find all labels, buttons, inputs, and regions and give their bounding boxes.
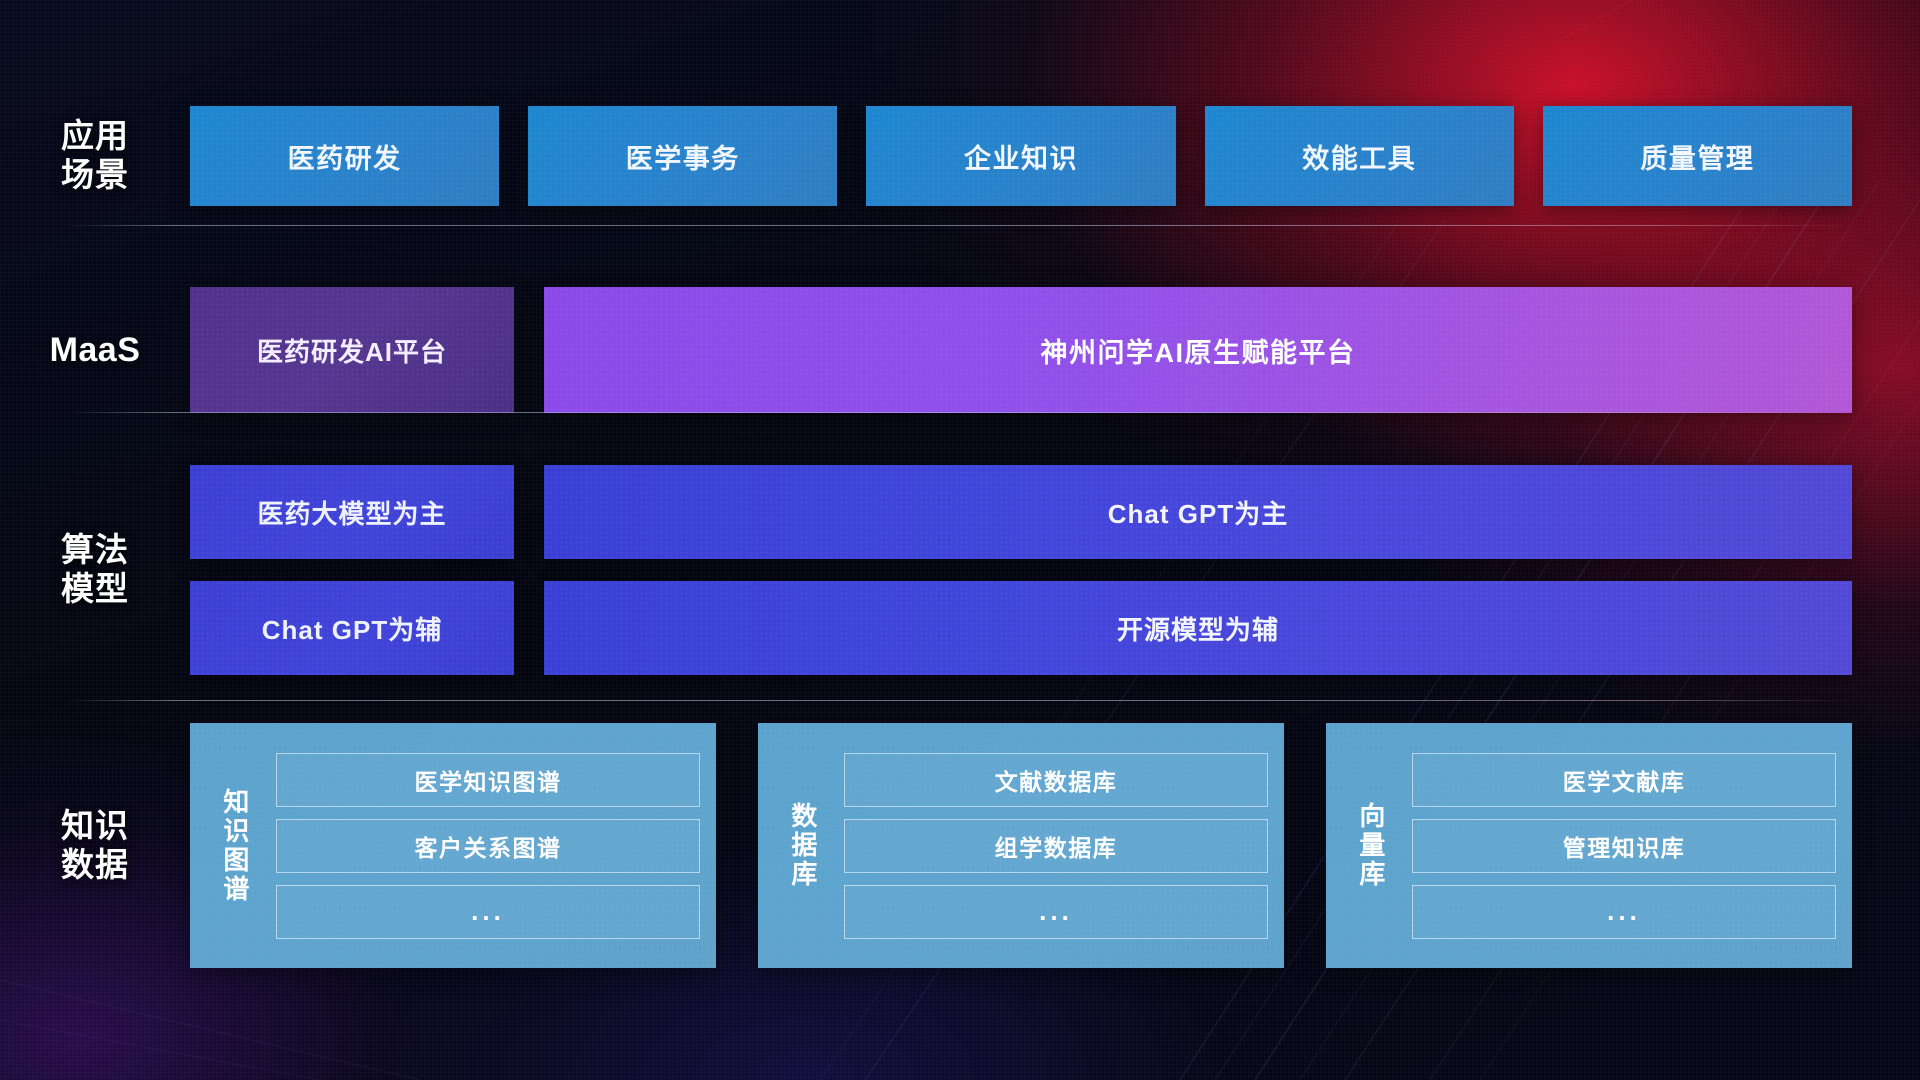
knowledge-item-more-vector-store[interactable]: ...: [1412, 885, 1836, 939]
knowledge-item-medical-knowledge-graph[interactable]: 医学知识图谱: [276, 753, 700, 807]
knowledge-item-omics-database[interactable]: 组学数据库: [844, 819, 1268, 873]
row-label-application-line1: 应用: [0, 117, 190, 156]
algo-card-opensource-secondary[interactable]: 开源模型为辅: [544, 581, 1852, 675]
divider-application-maas: [68, 225, 1852, 226]
row-label-knowledge-line1: 知识: [0, 807, 190, 846]
algorithm-row-primary: 医药大模型为主 Chat GPT为主: [190, 465, 1852, 559]
app-card-medical-affairs[interactable]: 医学事务: [528, 106, 837, 206]
knowledge-item-customer-relation-graph[interactable]: 客户关系图谱: [276, 819, 700, 873]
application-card-list: 医药研发 医学事务 企业知识 效能工具 质量管理: [190, 106, 1852, 206]
architecture-stack: 应用 场景 医药研发 医学事务 企业知识 效能工具 质量管理 MaaS 医药研发…: [0, 0, 1920, 1080]
knowledge-item-literature-database[interactable]: 文献数据库: [844, 753, 1268, 807]
row-body-algorithm: 医药大模型为主 Chat GPT为主 Chat GPT为辅 开源模型为辅: [190, 465, 1920, 675]
row-application-scenario: 应用 场景 医药研发 医学事务 企业知识 效能工具 质量管理: [0, 96, 1920, 216]
knowledge-item-list-database: 文献数据库 组学数据库 ...: [834, 739, 1268, 952]
app-card-medicine-rd[interactable]: 医药研发: [190, 106, 499, 206]
app-card-quality-management[interactable]: 质量管理: [1543, 106, 1852, 206]
divider-maas-algorithm: [68, 412, 1852, 413]
knowledge-item-medical-literature-store[interactable]: 医学文献库: [1412, 753, 1836, 807]
row-label-algorithm-line2: 模型: [0, 570, 190, 609]
knowledge-item-more-knowledge-graph[interactable]: ...: [276, 885, 700, 939]
row-knowledge-data: 知识 数据 知识图谱 医学知识图谱 客户关系图谱 ... 数据库 文献数据库: [0, 718, 1920, 973]
algo-card-medicine-large-model-primary[interactable]: 医药大模型为主: [190, 465, 514, 559]
knowledge-item-list-vector-store: 医学文献库 管理知识库 ...: [1402, 739, 1836, 952]
knowledge-group-label-vector-store: 向量库: [1338, 739, 1402, 952]
algo-card-chatgpt-secondary[interactable]: Chat GPT为辅: [190, 581, 514, 675]
knowledge-group-knowledge-graph[interactable]: 知识图谱 医学知识图谱 客户关系图谱 ...: [190, 723, 716, 968]
row-label-knowledge: 知识 数据: [0, 807, 190, 885]
knowledge-group-list: 知识图谱 医学知识图谱 客户关系图谱 ... 数据库 文献数据库 组学数据库 .…: [190, 723, 1852, 968]
algo-card-chatgpt-primary[interactable]: Chat GPT为主: [544, 465, 1852, 559]
knowledge-item-management-knowledge-store[interactable]: 管理知识库: [1412, 819, 1836, 873]
row-label-maas-text: MaaS: [0, 330, 190, 370]
maas-card-medicine-rd-ai-platform[interactable]: 医药研发AI平台: [190, 287, 514, 413]
maas-card-list: 医药研发AI平台 神州问学AI原生赋能平台: [190, 287, 1852, 413]
row-label-algorithm-line1: 算法: [0, 531, 190, 570]
maas-card-shenzhou-wenxue-platform[interactable]: 神州问学AI原生赋能平台: [544, 287, 1852, 413]
row-label-application: 应用 场景: [0, 117, 190, 195]
knowledge-group-database[interactable]: 数据库 文献数据库 组学数据库 ...: [758, 723, 1284, 968]
row-body-maas: 医药研发AI平台 神州问学AI原生赋能平台: [190, 287, 1920, 413]
knowledge-group-label-database: 数据库: [770, 739, 834, 952]
knowledge-group-vector-store[interactable]: 向量库 医学文献库 管理知识库 ...: [1326, 723, 1852, 968]
knowledge-item-more-database[interactable]: ...: [844, 885, 1268, 939]
row-body-knowledge: 知识图谱 医学知识图谱 客户关系图谱 ... 数据库 文献数据库 组学数据库 .…: [190, 723, 1920, 968]
algorithm-card-grid: 医药大模型为主 Chat GPT为主 Chat GPT为辅 开源模型为辅: [190, 465, 1852, 675]
app-card-efficiency-tools[interactable]: 效能工具: [1205, 106, 1514, 206]
algorithm-row-secondary: Chat GPT为辅 开源模型为辅: [190, 581, 1852, 675]
row-algorithm-model: 算法 模型 医药大模型为主 Chat GPT为主 Chat GPT为辅 开源模型…: [0, 455, 1920, 685]
row-label-application-line2: 场景: [0, 156, 190, 195]
knowledge-item-list-knowledge-graph: 医学知识图谱 客户关系图谱 ...: [266, 739, 700, 952]
row-body-application: 医药研发 医学事务 企业知识 效能工具 质量管理: [190, 106, 1920, 206]
divider-algorithm-knowledge: [68, 700, 1852, 701]
app-card-enterprise-knowledge[interactable]: 企业知识: [866, 106, 1175, 206]
row-maas: MaaS 医药研发AI平台 神州问学AI原生赋能平台: [0, 285, 1920, 415]
row-label-maas: MaaS: [0, 330, 190, 370]
row-label-knowledge-line2: 数据: [0, 846, 190, 885]
knowledge-group-label-knowledge-graph: 知识图谱: [202, 739, 266, 952]
row-label-algorithm: 算法 模型: [0, 531, 190, 609]
